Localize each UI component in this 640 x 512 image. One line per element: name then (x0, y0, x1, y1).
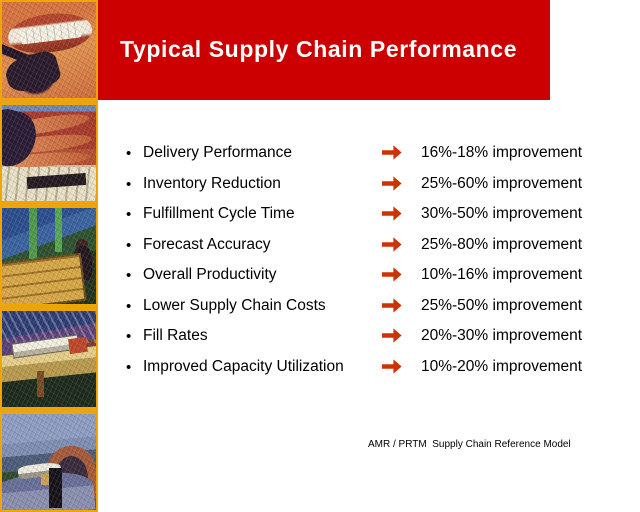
improvement-value: 20%-30% improvement (421, 326, 582, 346)
photo-tile-smiling-customer-telephone (0, 0, 98, 100)
metric-label: Lower Supply Chain Costs (143, 296, 326, 316)
list-item: • Improved Capacity Utilization 10%-20% … (98, 357, 640, 388)
tile-artwork (0, 309, 98, 409)
arrow-right-icon (381, 357, 403, 376)
tile-artwork (0, 412, 98, 512)
improvement-value: 10%-16% improvement (421, 265, 582, 285)
photo-tile-delivery-at-doorway (0, 412, 98, 512)
paint-texture (0, 0, 98, 100)
bullet-icon: • (126, 207, 131, 223)
improvement-value: 25%-50% improvement (421, 296, 582, 316)
list-item: • Delivery Performance 16%-18% improveme… (98, 143, 640, 174)
metric-label: Improved Capacity Utilization (143, 357, 344, 377)
metric-label: Overall Productivity (143, 265, 277, 285)
performance-metrics-list: • Delivery Performance 16%-18% improveme… (98, 143, 640, 387)
list-item: • Fill Rates 20%-30% improvement (98, 326, 640, 357)
page-title: Typical Supply Chain Performance (120, 36, 540, 63)
bullet-icon: • (126, 238, 131, 254)
arrow-right-icon (381, 296, 403, 315)
paint-texture (0, 412, 98, 512)
metric-label: Fill Rates (143, 326, 208, 346)
arrow-right-icon (381, 143, 403, 162)
metric-label: Inventory Reduction (143, 174, 281, 194)
bullet-icon: • (126, 360, 131, 376)
metric-label: Forecast Accuracy (143, 235, 271, 255)
tile-artwork (0, 103, 98, 203)
improvement-value: 16%-18% improvement (421, 143, 582, 163)
improvement-value: 10%-20% improvement (421, 357, 582, 377)
list-item: • Overall Productivity 10%-16% improveme… (98, 265, 640, 296)
bullet-icon: • (126, 268, 131, 284)
title-banner: Typical Supply Chain Performance (98, 0, 550, 100)
paint-texture (0, 103, 98, 203)
metric-label: Delivery Performance (143, 143, 292, 163)
source-attribution: AMR / PRTM Supply Chain Reference Model (368, 439, 571, 450)
paint-texture (0, 309, 98, 409)
list-item: • Lower Supply Chain Costs 25%-50% impro… (98, 296, 640, 327)
photo-strip (0, 0, 98, 512)
improvement-value: 25%-60% improvement (421, 174, 582, 194)
photo-tile-freight-truck-highway (0, 309, 98, 409)
bullet-icon: • (126, 146, 131, 162)
photo-tile-hands-on-keyboard (0, 103, 98, 203)
arrow-right-icon (381, 204, 403, 223)
photo-tile-warehouse-pallet-boxes (0, 206, 98, 306)
bullet-icon: • (126, 299, 131, 315)
list-item: • Inventory Reduction 25%-60% improvemen… (98, 174, 640, 205)
list-item: • Forecast Accuracy 25%-80% improvement (98, 235, 640, 266)
metric-label: Fulfillment Cycle Time (143, 204, 295, 224)
bullet-icon: • (126, 329, 131, 345)
slide-content: • Delivery Performance 16%-18% improveme… (98, 100, 640, 512)
paint-texture (0, 206, 98, 306)
arrow-right-icon (381, 235, 403, 254)
arrow-right-icon (381, 265, 403, 284)
improvement-value: 25%-80% improvement (421, 235, 582, 255)
arrow-right-icon (381, 174, 403, 193)
arrow-right-icon (381, 326, 403, 345)
list-item: • Fulfillment Cycle Time 30%-50% improve… (98, 204, 640, 235)
improvement-value: 30%-50% improvement (421, 204, 582, 224)
bullet-icon: • (126, 177, 131, 193)
tile-artwork (0, 0, 98, 100)
tile-artwork (0, 206, 98, 306)
